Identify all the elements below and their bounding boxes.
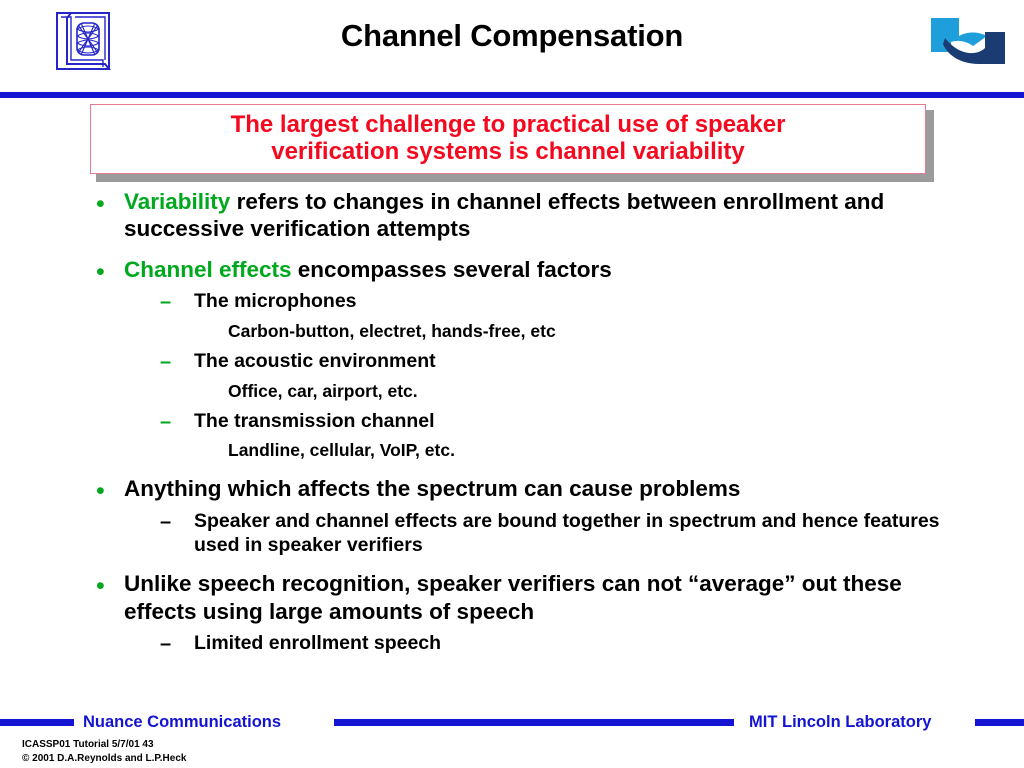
bullet-dot-icon: • xyxy=(96,574,124,599)
footer-label-nuance: Nuance Communications xyxy=(83,713,281,732)
bullet-text: Carbon-button, electret, hands-free, etc xyxy=(228,321,556,343)
dash-icon: – xyxy=(160,512,194,532)
copyright-notice: © 2001 D.A.Reynolds and L.P.Heck xyxy=(22,752,186,766)
dash-icon: – xyxy=(160,292,194,312)
bullet-item: – Limited enrollment speech xyxy=(0,632,1024,656)
bullet-item: – The transmission channel xyxy=(0,410,1024,434)
bullet-dot-icon: • xyxy=(96,479,124,504)
bullet-item: – The acoustic environment xyxy=(0,350,1024,374)
callout-line-2: verification systems is channel variabil… xyxy=(271,138,745,165)
copyright-block: ICASSP01 Tutorial 5/7/01 43 © 2001 D.A.R… xyxy=(22,738,186,765)
bullet-text: Anything which affects the spectrum can … xyxy=(124,475,740,502)
tutorial-reference: ICASSP01 Tutorial 5/7/01 43 xyxy=(22,738,186,752)
dash-icon: – xyxy=(160,352,194,372)
bullet-text: The transmission channel xyxy=(194,410,435,434)
footer-rule-left xyxy=(0,719,74,726)
slide-header: Channel Compensation xyxy=(0,0,1024,93)
bullet-text: The acoustic environment xyxy=(194,350,436,374)
bullet-text: Office, car, airport, etc. xyxy=(228,381,418,403)
dash-icon: – xyxy=(160,634,194,654)
bullet-dot-icon: • xyxy=(96,260,124,285)
bullet-text: Variability refers to changes in channel… xyxy=(124,188,934,243)
bullet-text: Limited enrollment speech xyxy=(194,632,441,656)
bullet-emphasis: Channel effects xyxy=(124,257,292,282)
slide-body: • Variability refers to changes in chann… xyxy=(0,188,1024,657)
bullet-item: • Anything which affects the spectrum ca… xyxy=(0,475,1024,502)
header-divider xyxy=(0,92,1024,98)
dash-icon: – xyxy=(160,412,194,432)
bullet-emphasis: Variability xyxy=(124,189,230,214)
bullet-text: Unlike speech recognition, speaker verif… xyxy=(124,570,934,625)
callout-text: The largest challenge to practical use o… xyxy=(223,112,794,166)
bullet-rest: refers to changes in channel effects bet… xyxy=(124,189,884,241)
footer-label-mit: MIT Lincoln Laboratory xyxy=(749,713,931,732)
bullet-item: Landline, cellular, VoIP, etc. xyxy=(0,440,1024,462)
bullet-item: Office, car, airport, etc. xyxy=(0,381,1024,403)
bullet-text: Speaker and channel effects are bound to… xyxy=(194,510,954,558)
footer-rule-center xyxy=(334,719,734,726)
bullet-item: – Speaker and channel effects are bound … xyxy=(0,510,1024,558)
bullet-text: Landline, cellular, VoIP, etc. xyxy=(228,440,455,462)
bullet-dot-icon: • xyxy=(96,192,124,217)
bullet-text: Channel effects encompasses several fact… xyxy=(124,256,612,283)
nuance-logo xyxy=(925,12,1009,70)
callout-line-1: The largest challenge to practical use o… xyxy=(231,111,786,138)
callout-box: The largest challenge to practical use o… xyxy=(90,104,926,174)
bullet-text: The microphones xyxy=(194,290,357,314)
footer-rule-right xyxy=(975,719,1024,726)
bullet-rest: encompasses several factors xyxy=(292,257,612,282)
bullet-item: – The microphones xyxy=(0,290,1024,314)
bullet-item: • Unlike speech recognition, speaker ver… xyxy=(0,570,1024,625)
bullet-item: • Variability refers to changes in chann… xyxy=(0,188,1024,243)
bullet-item: Carbon-button, electret, hands-free, etc xyxy=(0,321,1024,343)
page-title: Channel Compensation xyxy=(0,18,1024,54)
bullet-item: • Channel effects encompasses several fa… xyxy=(0,256,1024,283)
